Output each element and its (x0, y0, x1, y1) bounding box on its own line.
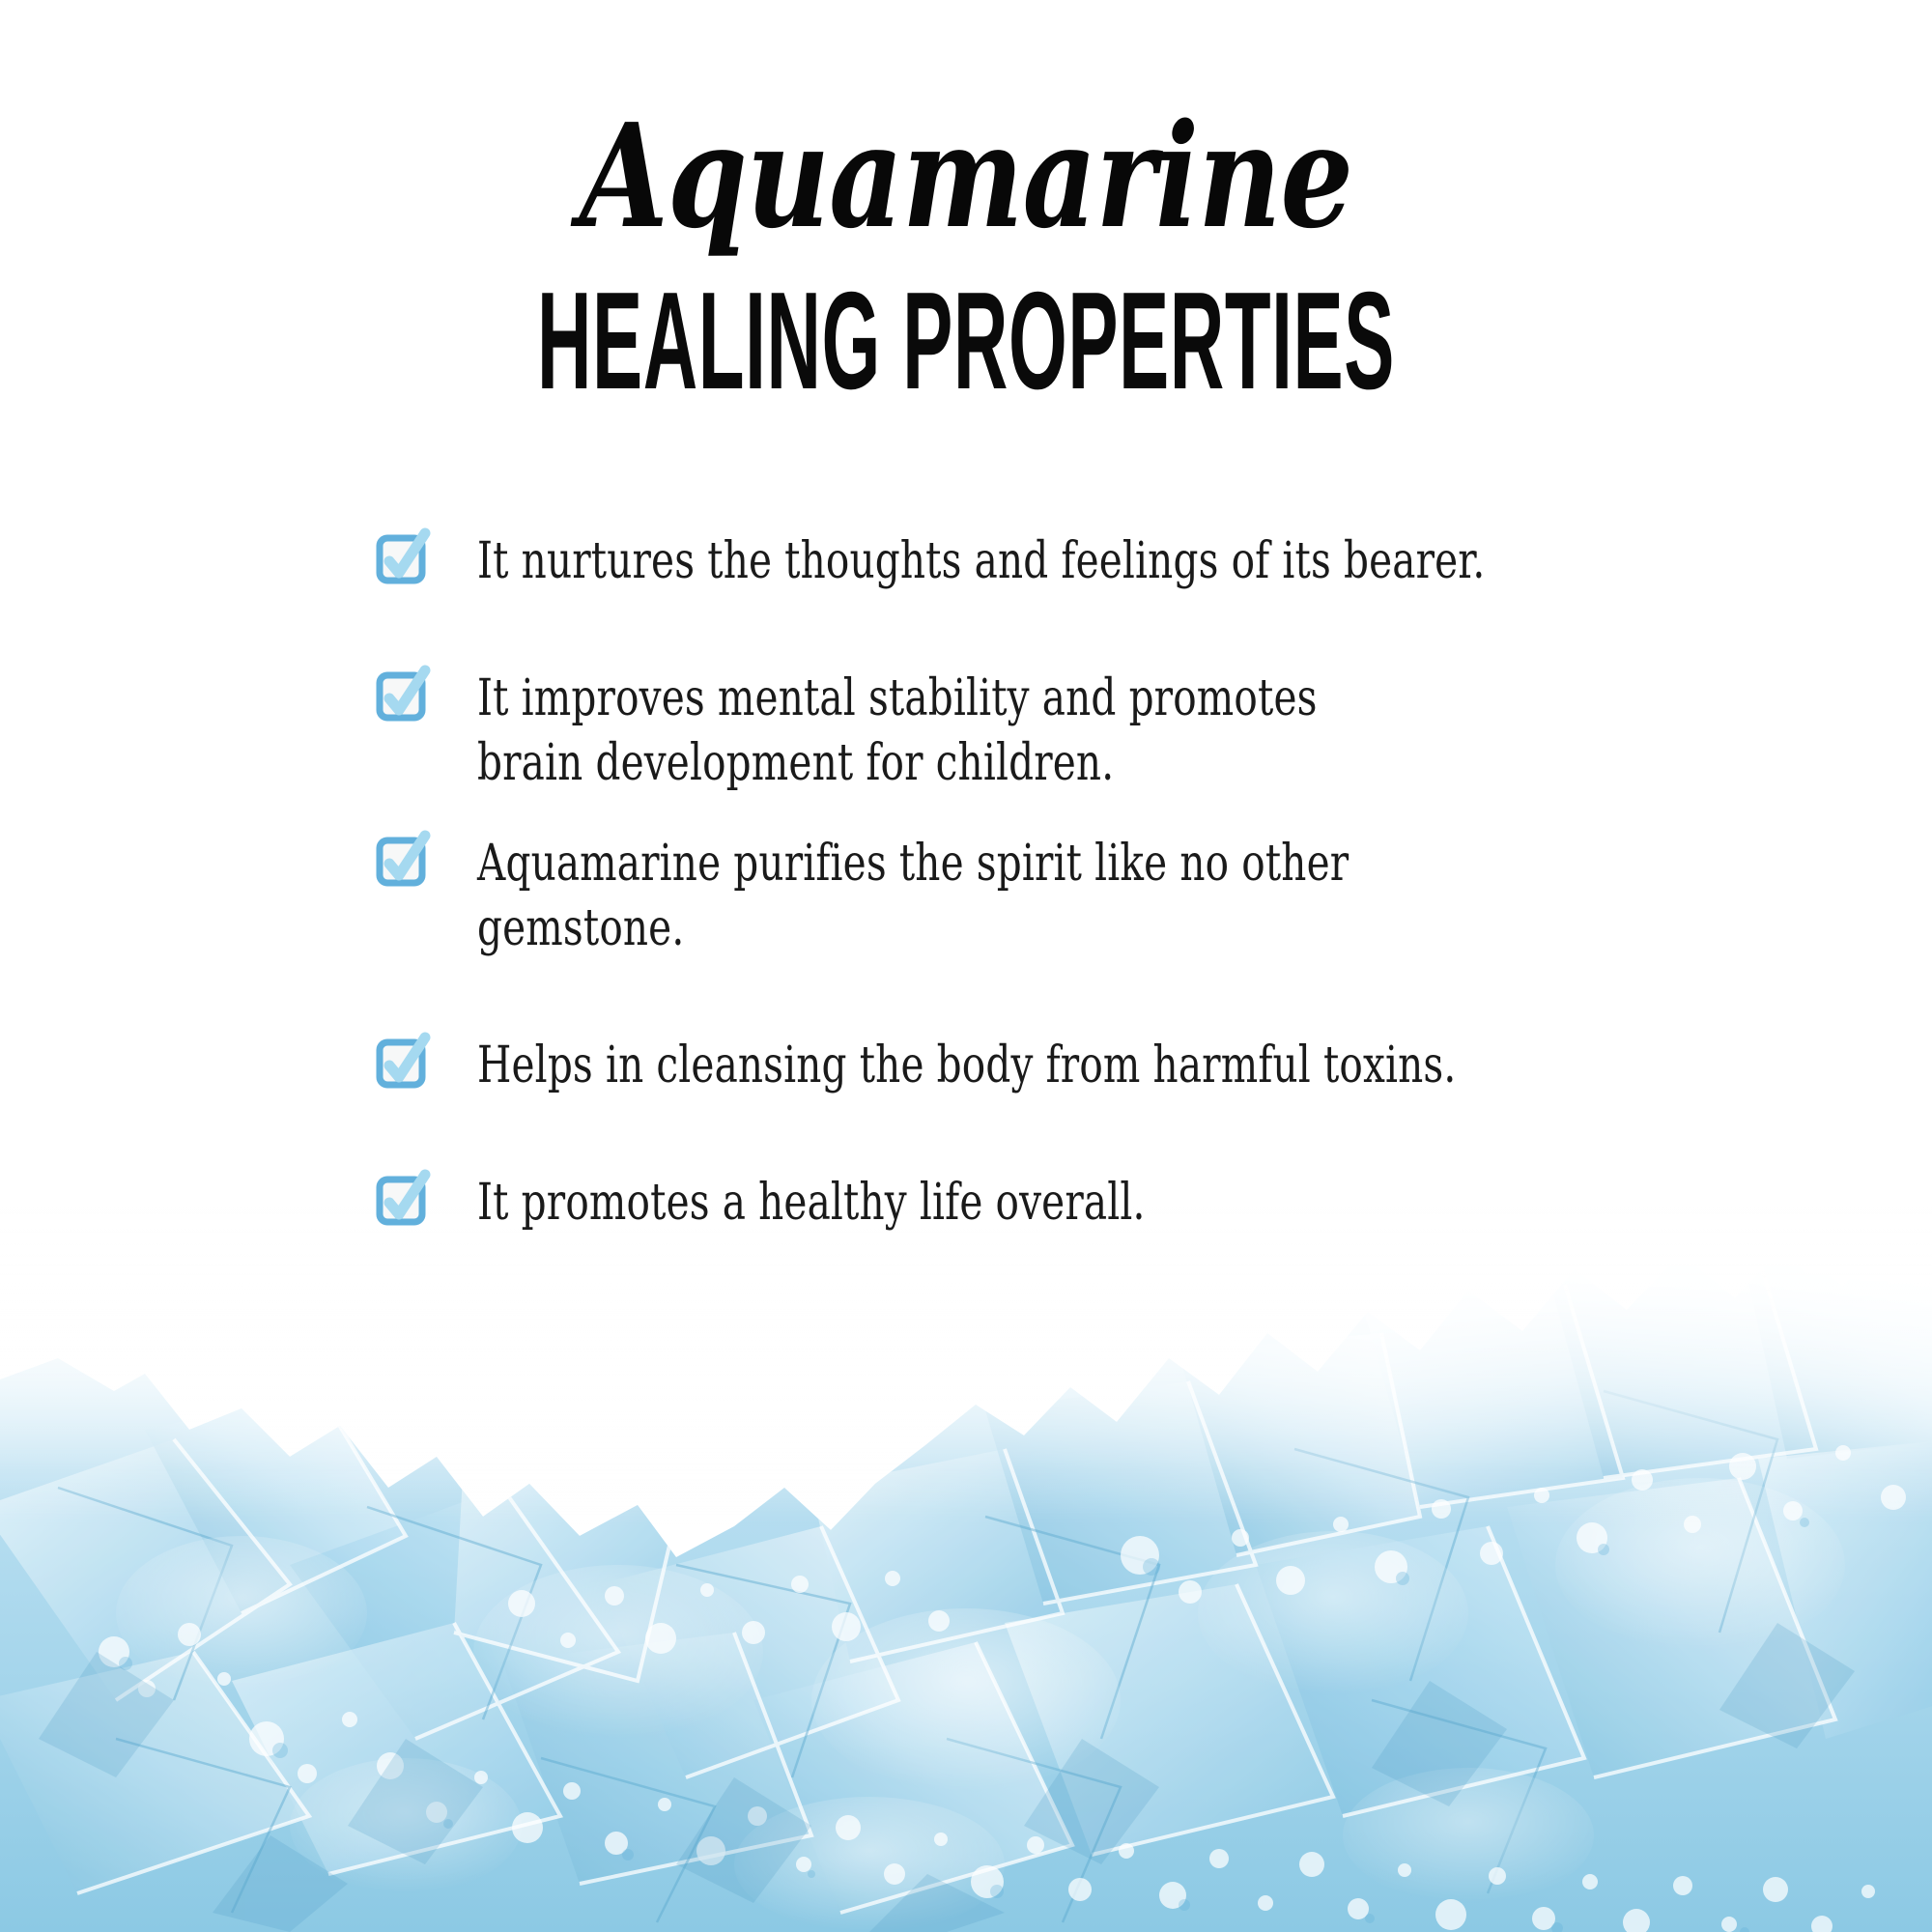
list-item-text: Helps in cleansing the body from harmful… (477, 1034, 1529, 1099)
ice-cubes-photo (0, 1198, 1932, 1932)
list-item: Aquamarine purifies the spirit like no o… (377, 832, 1826, 962)
poster-canvas: Aquamarine HEALING PROPERTIES It nurture… (0, 0, 1932, 1932)
checkbox-checked-icon (377, 668, 427, 723)
checkbox-checked-icon (377, 1173, 427, 1227)
list-item: It improves mental stability and promote… (377, 667, 1826, 797)
list-item: It nurtures the thoughts and feelings of… (377, 529, 1826, 595)
page-title: Aquamarine (193, 104, 1739, 247)
list-item: Helps in cleansing the body from harmful… (377, 1034, 1826, 1099)
properties-list: It nurtures the thoughts and feelings of… (377, 529, 1826, 1236)
list-item-text: Aquamarine purifies the spirit like no o… (477, 832, 1529, 962)
list-item-text: It improves mental stability and promote… (477, 667, 1529, 797)
list-item-text: It promotes a healthy life overall. (477, 1171, 1529, 1236)
checkbox-checked-icon (377, 1036, 427, 1090)
page-subtitle: HEALING PROPERTIES (367, 271, 1565, 411)
list-item-text: It nurtures the thoughts and feelings of… (477, 529, 1529, 595)
header: Aquamarine HEALING PROPERTIES (0, 0, 1932, 402)
checkbox-checked-icon (377, 834, 427, 888)
checkbox-checked-icon (377, 531, 427, 585)
list-item: It promotes a healthy life overall. (377, 1171, 1826, 1236)
